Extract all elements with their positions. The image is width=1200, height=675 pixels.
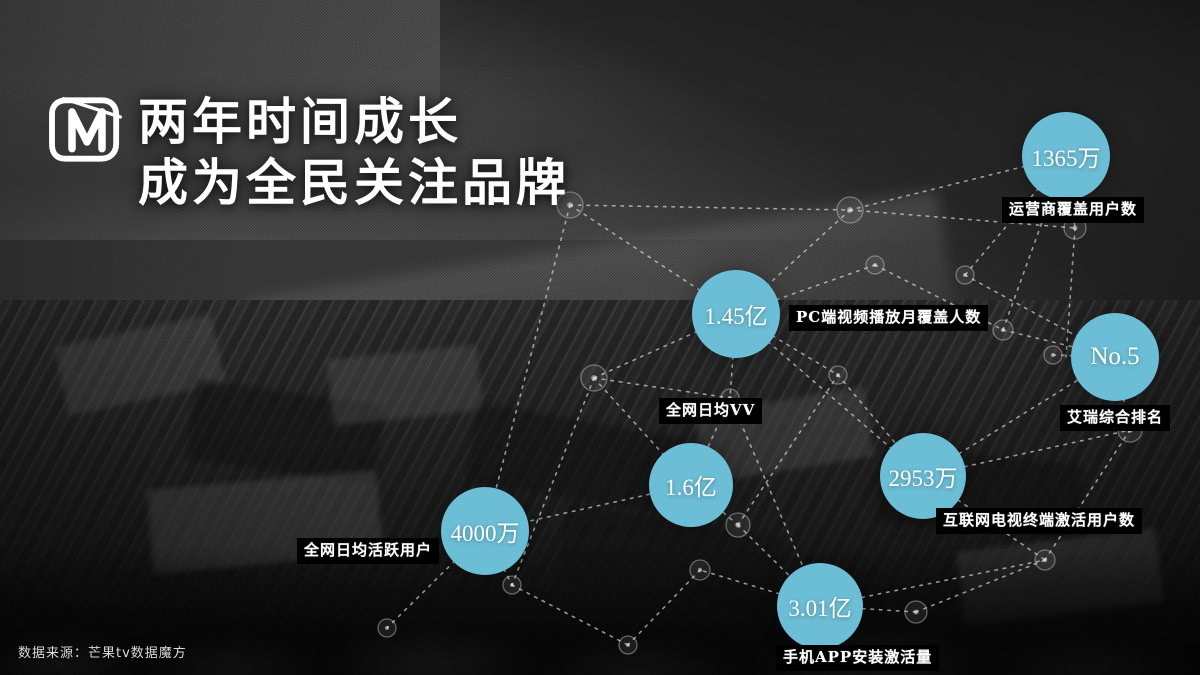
- metric-bubble-network-daily-active-users[interactable]: 4000万: [441, 487, 529, 575]
- metric-label-mobile-app-installs: 手机APP安装激活量: [776, 645, 939, 671]
- infographic-canvas: 两年时间成长 成为全民关注品牌 1365万运营商覆盖用户数1.45亿PC端视频播…: [0, 0, 1200, 675]
- title-line-2: 成为全民关注品牌: [138, 153, 570, 214]
- data-source-footnote: 数据来源：芒果tv数据魔方: [18, 642, 187, 661]
- title-text: 两年时间成长 成为全民关注品牌: [138, 92, 570, 214]
- metric-bubble-operator-coverage[interactable]: 1365万: [1022, 112, 1110, 200]
- metric-bubble-iresearch-rank[interactable]: No.5: [1071, 313, 1159, 401]
- metric-label-iptv-terminal-activation: 互联网电视终端激活用户数: [936, 508, 1142, 534]
- metric-label-pc-video-monthly-reach: PC端视频播放月覆盖人数: [789, 305, 988, 331]
- metric-bubble-pc-video-monthly-reach[interactable]: 1.45亿: [692, 270, 780, 358]
- metric-label-operator-coverage: 运营商覆盖用户数: [1002, 197, 1144, 223]
- metric-label-network-daily-active-users: 全网日均活跃用户: [297, 538, 439, 564]
- metric-label-network-daily-vv: 全网日均VV: [659, 398, 762, 424]
- title-block: 两年时间成长 成为全民关注品牌: [40, 92, 570, 214]
- metric-bubble-mobile-app-installs[interactable]: 3.01亿: [777, 563, 863, 649]
- metric-bubble-iptv-terminal-activation[interactable]: 2953万: [880, 433, 966, 519]
- metric-label-iresearch-rank: 艾瑞综合排名: [1060, 405, 1170, 431]
- metric-bubble-network-daily-vv[interactable]: 1.6亿: [649, 443, 733, 527]
- mango-tv-logo-icon: [40, 92, 124, 172]
- title-line-1: 两年时间成长: [138, 92, 570, 153]
